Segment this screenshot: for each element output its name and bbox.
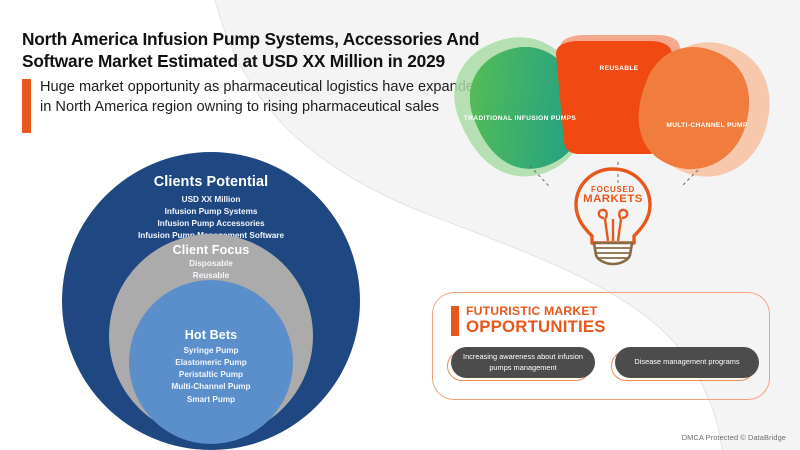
subtitle-accent-bar	[22, 79, 31, 133]
panel-title-block: FUTURISTIC MARKET OPPORTUNITIES	[466, 305, 606, 335]
lightbulb-icon	[560, 163, 666, 267]
page-subtitle: Huge market opportunity as pharmaceutica…	[40, 78, 492, 117]
circle-inner-items: Syringe Pump Elastomeric Pump Peristalti…	[129, 345, 293, 406]
opportunity-pill-1[interactable]: Increasing awareness about infusion pump…	[451, 347, 595, 379]
page-title: North America Infusion Pump Systems, Acc…	[22, 28, 492, 72]
circle-inner-heading: Hot Bets	[129, 328, 293, 342]
concentric-circles-diagram: Clients Potential USD XX Million Infusio…	[62, 152, 360, 450]
circle-outer-heading: Clients Potential	[62, 174, 360, 190]
circle-hot-bets: Hot Bets Syringe Pump Elastomeric Pump P…	[129, 280, 293, 444]
focused-markets-lightbulb: FOCUSED MARKETS	[560, 163, 666, 267]
futuristic-market-opportunities-panel: FUTURISTIC MARKET OPPORTUNITIES Increasi…	[432, 292, 770, 400]
opportunity-pill-2[interactable]: Disease management programs	[615, 347, 759, 379]
panel-title-line2: OPPORTUNITIES	[466, 318, 606, 336]
footer-copyright: DMCA Protected © DataBridge	[682, 433, 786, 442]
market-segment-petals: TRADITIONAL INFUSION PUMPS REUSABLE MULT…	[448, 26, 788, 186]
header: North America Infusion Pump Systems, Acc…	[22, 28, 492, 133]
circle-middle-items: Disposable Reusable	[109, 258, 313, 282]
circle-middle-heading: Client Focus	[109, 243, 313, 257]
opportunity-pill-row: Increasing awareness about infusion pump…	[451, 347, 769, 379]
panel-title-line1: FUTURISTIC MARKET	[466, 305, 606, 318]
subtitle-block: Huge market opportunity as pharmaceutica…	[22, 78, 492, 133]
opportunity-pill-1-label: Increasing awareness about infusion pump…	[451, 347, 595, 378]
petals-svg	[448, 26, 788, 186]
panel-heading: FUTURISTIC MARKET OPPORTUNITIES	[451, 305, 769, 336]
panel-accent-bar	[451, 306, 459, 336]
infographic-canvas: North America Infusion Pump Systems, Acc…	[0, 0, 800, 450]
opportunity-pill-2-label: Disease management programs	[615, 347, 759, 378]
